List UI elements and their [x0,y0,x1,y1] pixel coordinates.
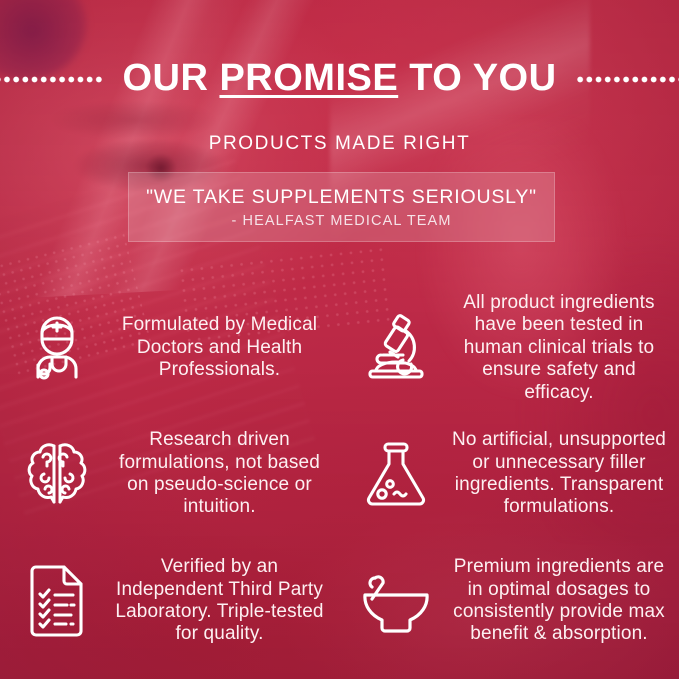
feature-text: Premium ingredients are in optimal dosag… [447,556,671,646]
feature-item: Verified by an Independent Third Party L… [0,537,339,665]
page-subtitle: PRODUCTS MADE RIGHT [0,133,679,155]
promise-infographic: OUR PROMISE TO YOU PRODUCTS MADE RIGHT "… [0,0,679,679]
feature-item: No artificial, unsupported or unnecessar… [339,411,679,537]
feature-text: No artificial, unsupported or unnecessar… [447,429,671,519]
flask-icon [353,431,439,517]
dotted-rule-left-icon [0,75,104,84]
feature-text: Research driven formulations, not based … [108,429,331,519]
feature-item: Research driven formulations, not based … [0,411,339,537]
feature-text: All product ingredients have been tested… [447,292,671,404]
brain-icon [14,431,100,517]
microscope-icon [353,305,439,391]
doctor-icon [14,305,100,391]
page-title-part-1: OUR [122,57,219,99]
feature-item: Premium ingredients are in optimal dosag… [339,537,679,665]
quote-text: "WE TAKE SUPPLEMENTS SERIOUSLY" [146,186,537,209]
feature-item: Formulated by Medical Doctors and Health… [0,285,339,411]
page-title-part-2: TO YOU [398,57,556,99]
header: OUR PROMISE TO YOU PRODUCTS MADE RIGHT [0,34,679,155]
mortar-pestle-icon [353,558,439,644]
feature-grid: Formulated by Medical Doctors and Health… [0,285,679,665]
feature-text: Formulated by Medical Doctors and Health… [108,314,331,381]
page-title-underlined-word: PROMISE [219,57,398,99]
dotted-rule-right-icon [575,75,679,84]
page-title: OUR PROMISE TO YOU [104,59,574,99]
feature-text: Verified by an Independent Third Party L… [108,556,331,646]
quote-banner: "WE TAKE SUPPLEMENTS SERIOUSLY" - HEALFA… [128,172,555,242]
title-row: OUR PROMISE TO YOU [0,34,679,125]
feature-item: All product ingredients have been tested… [339,285,679,411]
quote-attribution: - HEALFAST MEDICAL TEAM [231,213,451,229]
checklist-document-icon [14,558,100,644]
